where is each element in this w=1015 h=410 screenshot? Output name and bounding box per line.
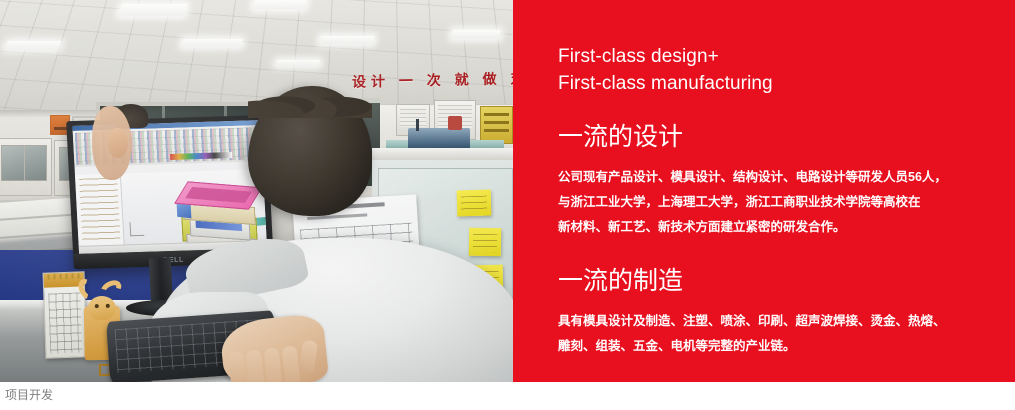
ceiling-light: [4, 41, 61, 50]
section-heading-manufacturing: 一流的制造: [558, 266, 1015, 296]
bench-countertop: [372, 148, 513, 160]
ceiling-light: [276, 60, 321, 66]
figurine-eye: [95, 304, 99, 308]
project-development-photo: 设计 一 次 就 做 对: [0, 0, 513, 382]
ceiling-light: [451, 30, 500, 39]
cad-axis-indicator: [130, 222, 145, 236]
ceiling-light: [181, 39, 243, 47]
engineer-head: [248, 86, 372, 216]
mold-nozzle: [255, 216, 267, 226]
ceiling-light: [118, 4, 187, 16]
hair-tufts: [248, 78, 372, 118]
body-line: 与浙江工业大学，上海理工大学，浙江工商职业技术学院等高校在: [558, 190, 978, 215]
wall-slogan-text: 设计 一 次 就 做 对: [352, 68, 513, 92]
body-line: 新材料、新工艺、新技术方面建立紧密的研发合作。: [558, 215, 978, 240]
cad-feature-tree: [75, 174, 125, 246]
sticky-note-writing: [473, 234, 497, 252]
finger: [264, 347, 284, 382]
banner: 设计 一 次 就 做 对: [0, 0, 1015, 382]
finger: [228, 351, 247, 382]
cabinet-door-split: [24, 145, 25, 181]
body-line: 雕刻、组装、五金、电机等完整的产业链。: [558, 334, 978, 359]
figurine-eye: [106, 304, 110, 308]
equipment-grille: [400, 109, 426, 127]
figurine-head: [88, 296, 116, 320]
image-caption: 项目开发: [5, 387, 53, 404]
english-heading: First-class design+ First-class manufact…: [558, 44, 1015, 98]
body-line: 公司现有产品设计、模具设计、结构设计、电路设计等研发人员56人，: [558, 165, 978, 190]
storage-cabinet: [0, 138, 52, 196]
body-line: 具有模具设计及制造、注塑、喷涂、印刷、超声波焊接、烫金、热熔、: [558, 309, 978, 334]
yellow-control-panel: [480, 106, 513, 144]
ceiling-light: [253, 0, 307, 9]
english-heading-line-2: First-class manufacturing: [558, 71, 1015, 98]
finger: [246, 349, 266, 382]
finger: [282, 346, 301, 382]
section-body-manufacturing: 具有模具设计及制造、注塑、喷涂、印刷、超声波焊接、烫金、热熔、 雕刻、组装、五金…: [558, 309, 978, 359]
mold-side-block: [177, 203, 192, 219]
sticky-note: [469, 228, 501, 257]
cad-tree-items: [79, 178, 120, 243]
thumb: [298, 340, 318, 376]
ceiling-light: [319, 36, 374, 44]
cad-viewport: [121, 169, 267, 244]
english-heading-line-1: First-class design+: [558, 44, 1015, 71]
mold-bolt-holes: [185, 187, 252, 203]
red-content-panel: First-class design+ First-class manufact…: [513, 0, 1015, 382]
sticky-note-writing: [461, 196, 487, 213]
sticky-note: [457, 190, 492, 217]
section-body-design: 公司现有产品设计、模具设计、结构设计、电路设计等研发人员56人， 与浙江工业大学…: [558, 165, 978, 240]
engineer-ear: [108, 128, 128, 158]
section-heading-design: 一流的设计: [558, 122, 1015, 152]
